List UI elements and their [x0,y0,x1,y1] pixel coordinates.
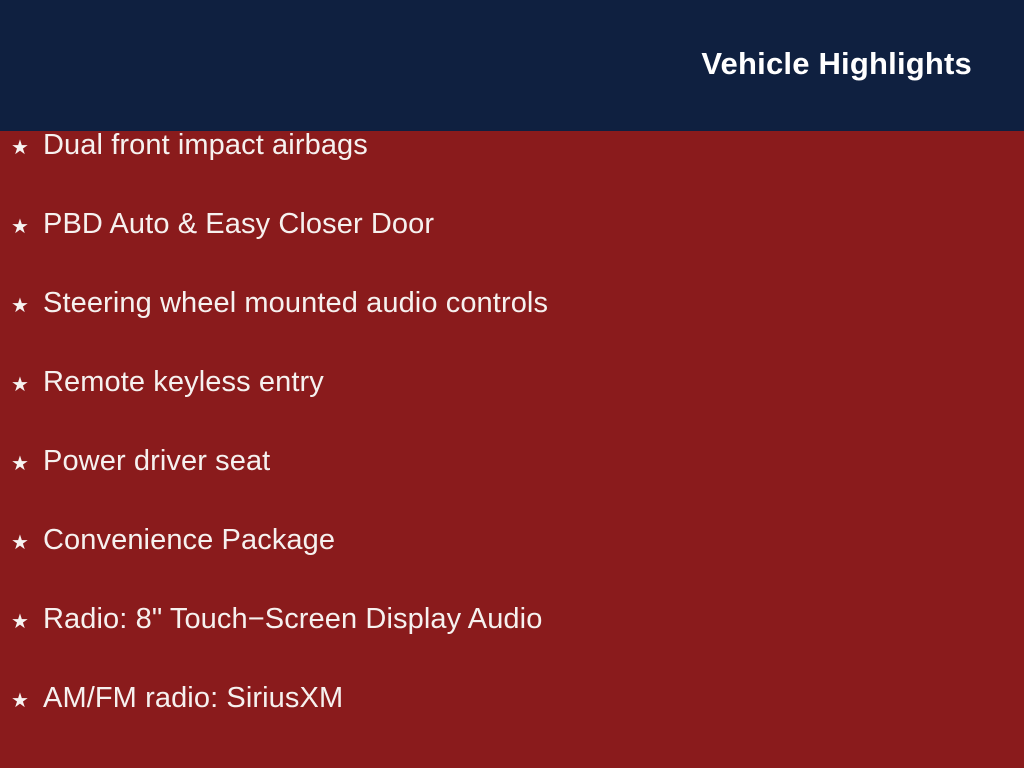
star-bullet-icon: ★ [11,533,43,553]
page-title: Vehicle Highlights [701,47,972,81]
list-item: ★ PBD Auto & Easy Closer Door [0,210,1024,289]
list-item-label: Remote keyless entry [43,368,324,397]
star-bullet-icon: ★ [11,138,43,158]
vehicle-highlights-slide: Vehicle Highlights ★ Dual front impact a… [0,0,1024,768]
star-bullet-icon: ★ [11,454,43,474]
list-item-label: Steering wheel mounted audio controls [43,289,548,318]
list-item: ★ Radio: 8" Touch−Screen Display Audio [0,605,1024,684]
list-item-label: PBD Auto & Easy Closer Door [43,210,434,239]
list-item: ★ Convenience Package [0,526,1024,605]
list-item: ★ AM/FM radio: SiriusXM [0,684,1024,763]
list-item-label: AM/FM radio: SiriusXM [43,684,343,713]
list-item: ★ Remote keyless entry [0,368,1024,447]
list-item: ★ Power driver seat [0,447,1024,526]
list-item-label: Dual front impact airbags [43,131,368,160]
list-item-label: Radio: 8" Touch−Screen Display Audio [43,605,542,634]
star-bullet-icon: ★ [11,691,43,711]
list-item: ★ Dual front impact airbags [0,131,1024,210]
header-band: Vehicle Highlights [0,0,1024,131]
list-item-label: Convenience Package [43,526,335,555]
vehicle-highlights-list: ★ Dual front impact airbags ★ PBD Auto &… [0,131,1024,763]
star-bullet-icon: ★ [11,375,43,395]
star-bullet-icon: ★ [11,612,43,632]
list-item-label: Power driver seat [43,447,270,476]
list-item: ★ Steering wheel mounted audio controls [0,289,1024,368]
star-bullet-icon: ★ [11,296,43,316]
star-bullet-icon: ★ [11,217,43,237]
